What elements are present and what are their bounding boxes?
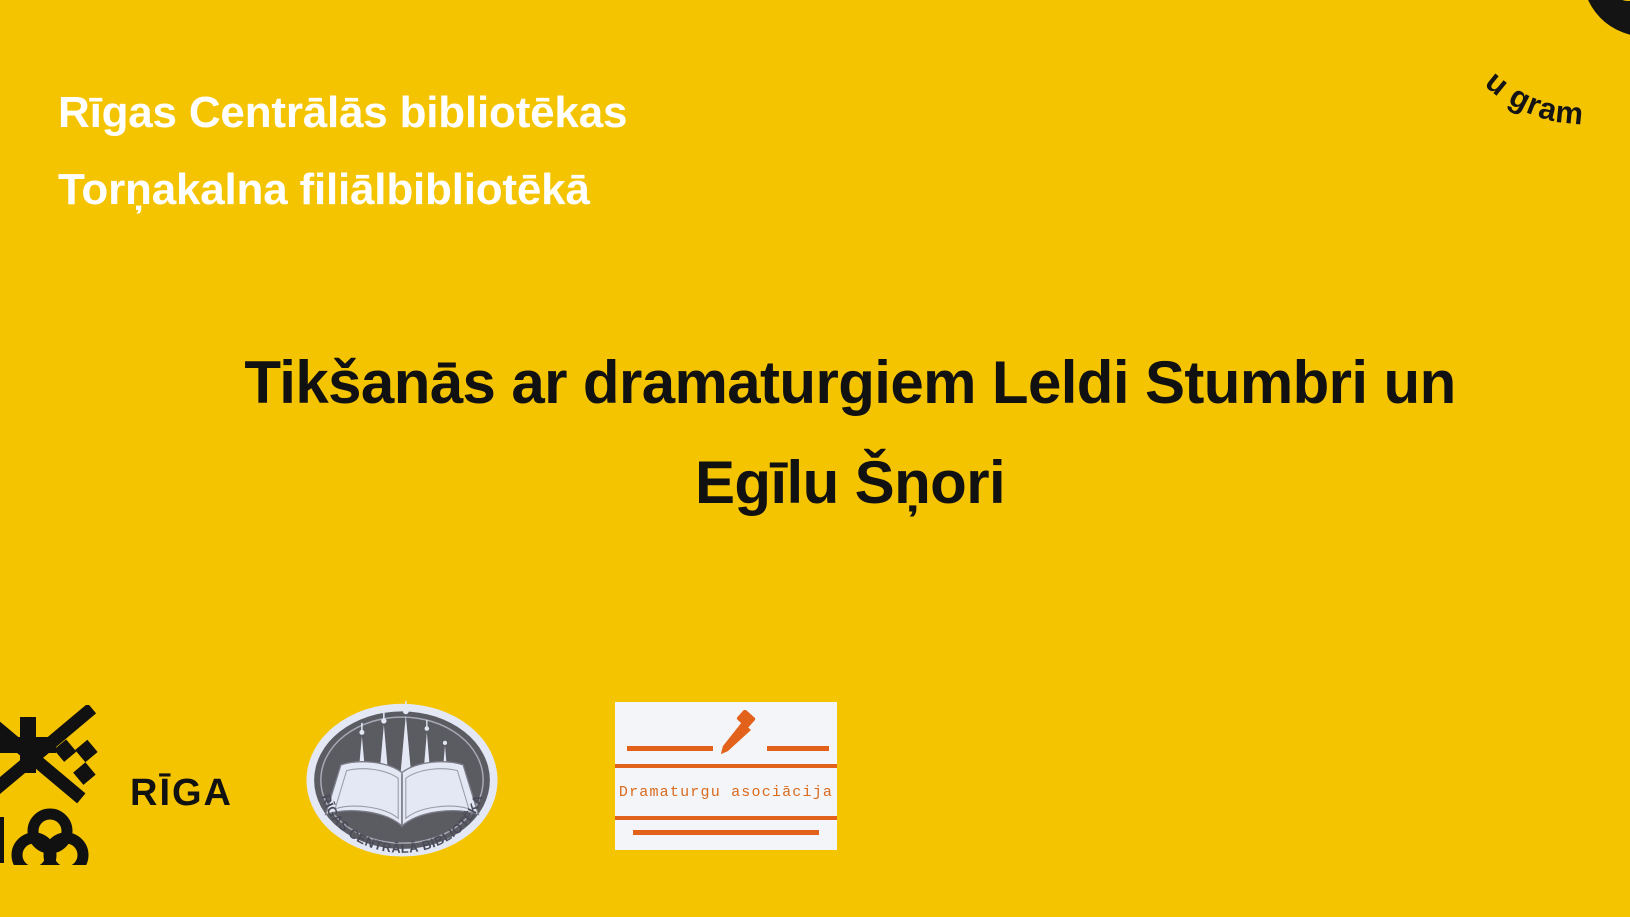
page-title: Tikšanās ar dramaturgiem Leldi Stumbri u… [0,333,1630,532]
page-title-line-1: Tikšanās ar dramaturgiem Leldi Stumbri u… [0,333,1630,433]
crossed-keys-icon [0,705,114,865]
drama-rule-left [627,746,713,751]
venue-subtitle: Rīgas Centrālās bibliotēkas Torņakalna f… [58,74,627,228]
riga-city-logo: RĪGA [0,700,254,870]
drama-card-spacer [615,820,837,830]
riga-wordmark: RĪGA [130,772,233,815]
page-title-line-2: Egīlu Šņori [0,433,1630,533]
drama-association-logo: Dramaturgu asociācija [615,702,837,850]
event-slide: Literārais pasākums notiks u gram Rīgas … [0,0,1630,917]
venue-subtitle-line-1: Rīgas Centrālās bibliotēkas [58,74,627,151]
corner-blob-shape [1536,0,1630,60]
pencil-icon [711,710,763,758]
venue-subtitle-line-2: Torņakalna filiālbibliotēkā [58,151,627,228]
drama-logo-header [615,702,837,764]
drama-rule-right [767,746,829,751]
drama-association-name: Dramaturgu asociācija [615,768,837,816]
corner-stamp-text: u gram [1479,63,1586,131]
library-seal-logo: RĪGAS CENTRĀLĀ BIBLIOTĒKA [294,698,510,868]
logo-row: RĪGA [0,690,1630,880]
drama-rule-footer [633,830,819,835]
